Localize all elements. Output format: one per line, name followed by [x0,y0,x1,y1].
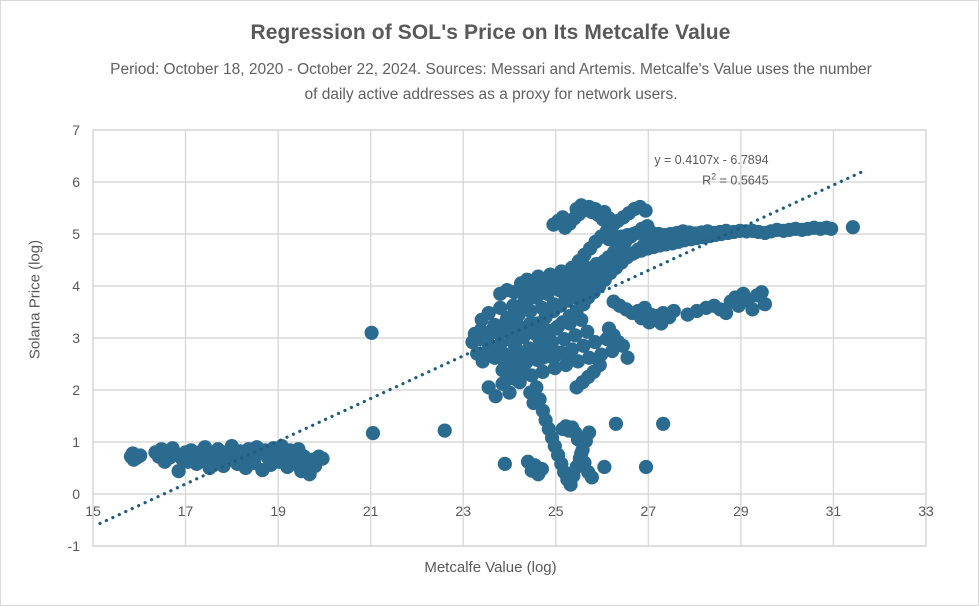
scatter-point [585,470,599,484]
y-tick-label: 6 [72,174,80,190]
scatter-point [366,426,380,440]
x-axis-title: Metcalfe Value (log) [1,559,979,576]
x-tick-label: 25 [548,503,564,519]
y-tick-label: 7 [72,122,80,138]
y-tick-label: 5 [72,226,80,242]
scatter-point [755,285,769,299]
scatter-point [438,423,452,437]
scatter-point [638,204,652,218]
scatter-point [609,417,623,431]
scatter-point [133,448,147,462]
scatter-point [536,365,550,379]
scatter-point [656,417,670,431]
scatter-point [571,432,585,446]
scatter-point [846,220,860,234]
scatter-point [639,460,653,474]
scatter-point [498,457,512,471]
x-tick-label: 33 [918,503,934,519]
scatter-point [556,210,570,224]
y-tick-label: -1 [68,538,81,554]
scatter-point [529,380,543,394]
equation-label: y = 0.4107x - 6.7894 [654,153,768,167]
scatter-point [489,389,503,403]
x-tick-label: 15 [85,503,101,519]
chart-container: Regression of SOL's Price on Its Metcalf… [0,0,979,606]
y-axis-title: Solana Price (log) [27,200,44,400]
x-axis-tick-labels: 15171921232527293133 [85,503,934,519]
scatter-point [364,326,378,340]
scatter-point [601,215,615,229]
scatter-point [502,386,516,400]
scatter-point [560,348,574,362]
x-tick-label: 29 [733,503,749,519]
y-tick-label: 4 [72,278,80,294]
scatter-point [602,322,616,336]
x-tick-label: 21 [363,503,379,519]
y-tick-label: 0 [72,486,80,502]
scatter-point [595,262,609,276]
scatter-point [570,380,584,394]
x-tick-label: 19 [270,503,286,519]
r-squared-label: R2 = 0.5645 [702,172,769,188]
y-tick-label: 3 [72,330,80,346]
scatter-point [745,302,759,316]
x-tick-label: 23 [455,503,471,519]
scatter-point [535,462,549,476]
scatter-point [509,373,523,387]
y-tick-label: 1 [72,434,80,450]
scatter-point [667,304,681,318]
scatter-plot-svg: -10123456715171921232527293133y = 0.4107… [1,1,979,606]
scatter-point [824,222,838,236]
y-tick-label: 2 [72,382,80,398]
scatter-point [758,297,772,311]
scatter-point [597,460,611,474]
scatter-point [315,452,329,466]
plot-area-wrapper: -10123456715171921232527293133y = 0.4107… [1,1,979,606]
y-axis-tick-labels: -101234567 [68,122,81,554]
scatter-points [124,198,860,491]
scatter-point [654,316,668,330]
scatter-point [587,278,601,292]
x-tick-label: 31 [826,503,842,519]
x-tick-label: 17 [178,503,194,519]
x-tick-label: 27 [641,503,657,519]
